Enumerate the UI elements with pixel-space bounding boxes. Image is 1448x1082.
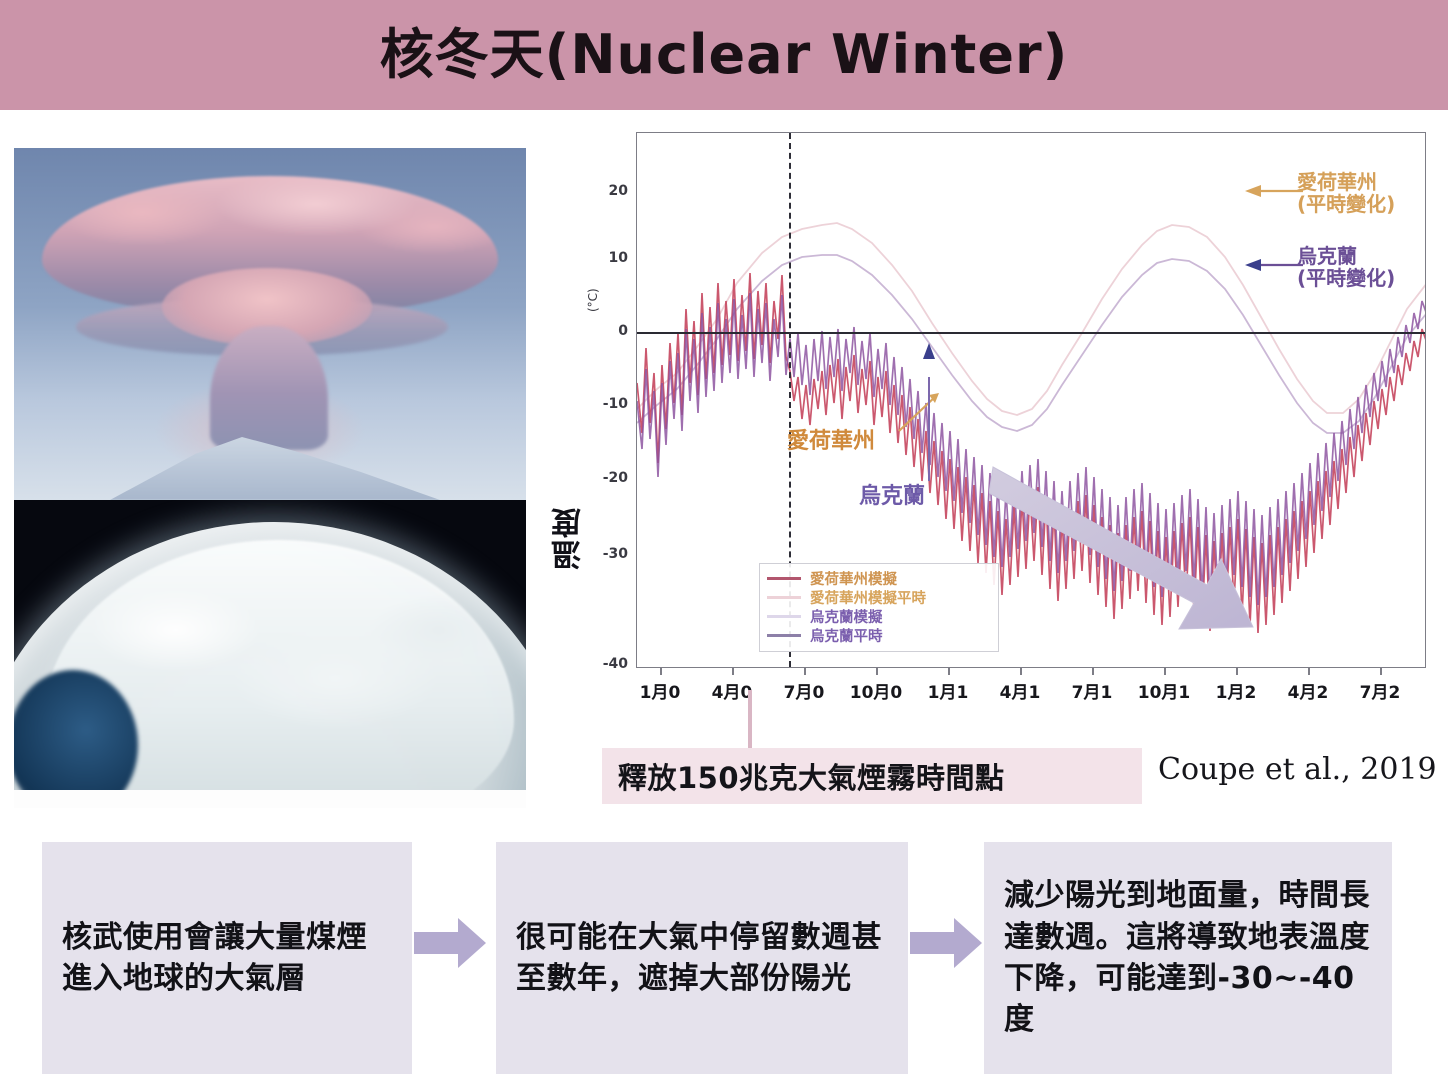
- y-tick-20: 20: [592, 183, 628, 199]
- plot-area: 愛荷華州 烏克蘭 愛荷華州 (平時變化) 烏克蘭 (平時變化): [636, 132, 1426, 668]
- x-tick-mark: [1380, 668, 1382, 675]
- x-tick-label-1: 4月0: [712, 678, 753, 703]
- x-tick-label-3: 10月0: [850, 678, 903, 703]
- legend-swatch-ukraine-sim: [767, 615, 801, 618]
- citation-text: Coupe et al., 2019: [1158, 752, 1437, 787]
- legend-label-ukraine-normal: 烏克蘭平時: [810, 625, 883, 646]
- page-title: 核冬天(Nuclear Winter): [0, 10, 1448, 100]
- cloud-stem-shape: [210, 326, 328, 450]
- x-tick-mark: [660, 668, 662, 675]
- flow-box-1: 核武使用會讓大量煤煙進入地球的大氣層: [42, 842, 412, 1074]
- x-tick-mark: [948, 668, 950, 675]
- x-tick-label-8: 1月2: [1216, 678, 1257, 703]
- x-tick-label-0: 1月0: [640, 678, 681, 703]
- iowa-normal-annotation-line1: 愛荷華州: [1297, 171, 1395, 193]
- annotation-pointer-arrows: [1237, 173, 1307, 303]
- flow-box-2: 很可能在大氣中停留數週甚至數年，遮掉大部份陽光: [496, 842, 908, 1074]
- y-axis-label: 溫度: [548, 506, 592, 570]
- x-tick-mark: [732, 668, 734, 675]
- x-tick-label-4: 1月1: [928, 678, 969, 703]
- y-axis-unit: (°C): [586, 288, 600, 312]
- ukraine-normal-annotation: 烏克蘭 (平時變化): [1297, 245, 1395, 290]
- legend-label-iowa-normal: 愛荷華州模擬平時: [810, 587, 926, 608]
- y-tick-neg40: -40: [592, 656, 628, 672]
- y-tick-neg30: -30: [592, 546, 628, 562]
- iowa-normal-annotation: 愛荷華州 (平時變化): [1297, 171, 1395, 216]
- y-tick-0: 0: [592, 323, 628, 339]
- flow-box-2-text: 很可能在大氣中停留數週甚至數年，遮掉大部份陽光: [516, 917, 888, 1000]
- legend-item-ukraine-normal: 烏克蘭平時: [767, 626, 991, 645]
- x-tick-label-10: 7月2: [1360, 678, 1401, 703]
- legend-label-ukraine-sim: 烏克蘭模擬: [810, 606, 883, 627]
- x-tick-mark: [1308, 668, 1310, 675]
- x-tick-label-9: 4月2: [1288, 678, 1329, 703]
- legend-swatch-iowa-normal: [767, 596, 801, 599]
- iowa-normal-annotation-line2: (平時變化): [1297, 193, 1395, 215]
- y-tick-neg20: -20: [592, 470, 628, 486]
- event-caption-box: 釋放150兆克大氣煙霧時間點: [602, 748, 1142, 804]
- flow-arrow-2-icon: [910, 916, 984, 970]
- ukraine-normal-annotation-line2: (平時變化): [1297, 267, 1395, 289]
- x-tick-mark: [1164, 668, 1166, 675]
- x-tick-label-5: 4月1: [1000, 678, 1041, 703]
- legend-swatch-iowa-sim: [767, 577, 801, 580]
- flow-arrow-1-icon: [414, 916, 488, 970]
- event-caption-text: 釋放150兆克大氣煙霧時間點: [618, 755, 1005, 797]
- mushroom-cloud-photo: [14, 148, 526, 500]
- x-tick-mark: [1236, 668, 1238, 675]
- x-tick-mark: [876, 668, 878, 675]
- ukraine-normal-annotation-line1: 烏克蘭: [1297, 245, 1395, 267]
- legend-label-iowa-sim: 愛荷華州模擬: [810, 568, 897, 589]
- legend-item-iowa-sim: 愛荷華州模擬: [767, 569, 991, 588]
- legend-item-ukraine-sim: 烏克蘭模擬: [767, 607, 991, 626]
- flow-box-3-text: 減少陽光到地面量，時間長達數週。這將導致地表溫度下降，可能達到-30~-40度: [1004, 875, 1372, 1041]
- flow-box-3: 減少陽光到地面量，時間長達數週。這將導致地表溫度下降，可能達到-30~-40度: [984, 842, 1392, 1074]
- frozen-earth-photo: [14, 500, 526, 808]
- flow-box-1-text: 核武使用會讓大量煤煙進入地球的大氣層: [62, 917, 392, 1000]
- legend-item-iowa-normal: 愛荷華州模擬平時: [767, 588, 991, 607]
- x-tick-label-2: 7月0: [784, 678, 825, 703]
- legend-swatch-ukraine-normal: [767, 634, 801, 637]
- x-tick-mark: [1020, 668, 1022, 675]
- event-connector-line: [748, 690, 752, 748]
- x-tick-label-7: 10月1: [1138, 678, 1191, 703]
- temperature-chart: (°C) 溫度 20 10 0 -10 -20 -30 -40 愛荷華州 烏克蘭: [540, 126, 1440, 726]
- photo-bottom-edge: [14, 790, 526, 808]
- slide-title-bar: 核冬天(Nuclear Winter): [0, 0, 1448, 110]
- y-tick-neg10: -10: [592, 396, 628, 412]
- y-tick-10: 10: [592, 250, 628, 266]
- x-tick-label-6: 7月1: [1072, 678, 1113, 703]
- earth-limb-glow: [14, 522, 526, 808]
- chart-legend: 愛荷華州模擬 愛荷華州模擬平時 烏克蘭模擬 烏克蘭平時: [759, 563, 999, 652]
- x-tick-mark: [804, 668, 806, 675]
- x-tick-mark: [1092, 668, 1094, 675]
